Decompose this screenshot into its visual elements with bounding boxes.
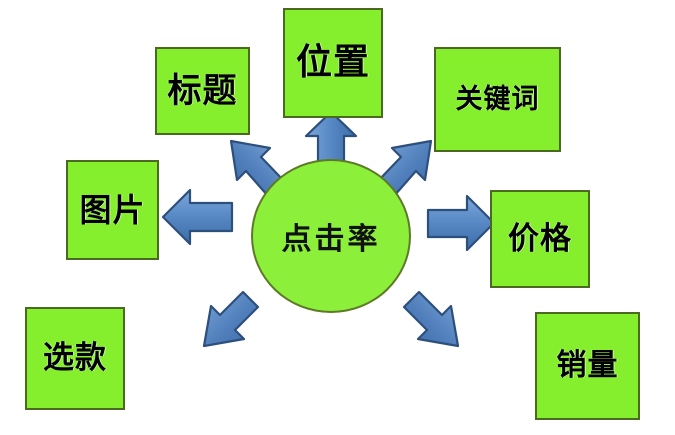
node-label-image: 图片 bbox=[79, 194, 145, 226]
arrow-right-icon bbox=[428, 196, 494, 250]
node-box-title[interactable]: 标题 bbox=[155, 47, 250, 135]
node-label-position: 位置 bbox=[296, 45, 370, 81]
node-box-price[interactable]: 价格 bbox=[490, 190, 590, 288]
arrow-left-icon bbox=[163, 190, 232, 244]
node-label-style: 选款 bbox=[43, 343, 107, 374]
center-node-label: 点击率 bbox=[282, 214, 381, 258]
arrow-down-right-icon bbox=[404, 292, 458, 346]
diagram-canvas: 点击率 位置 标题 关键词 图片 价格 选款 销量 bbox=[0, 0, 675, 435]
node-label-price: 价格 bbox=[508, 224, 572, 255]
node-label-sales: 销量 bbox=[557, 351, 619, 381]
node-label-keyword: 关键词 bbox=[456, 86, 540, 113]
node-box-image[interactable]: 图片 bbox=[66, 160, 159, 260]
node-box-sales[interactable]: 销量 bbox=[535, 312, 640, 420]
arrow-down-left-icon bbox=[204, 292, 258, 346]
node-box-position[interactable]: 位置 bbox=[283, 8, 383, 118]
node-label-title: 标题 bbox=[168, 74, 238, 108]
node-box-style[interactable]: 选款 bbox=[25, 307, 125, 410]
center-node-click-rate[interactable]: 点击率 bbox=[251, 159, 411, 313]
node-box-keyword[interactable]: 关键词 bbox=[434, 47, 561, 152]
